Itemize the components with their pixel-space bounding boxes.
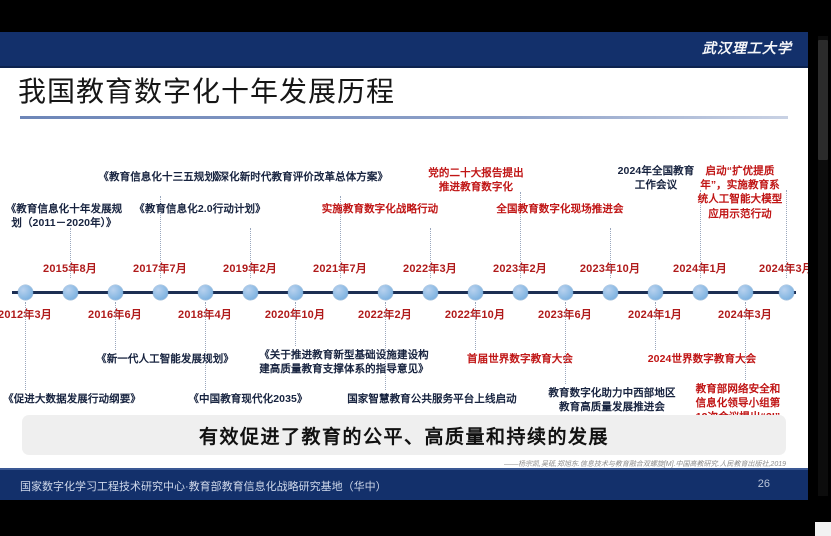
timeline-leader-line: [745, 302, 746, 380]
timeline-node-dot: [153, 285, 168, 300]
viewer-bottom-letterbox: [0, 500, 831, 536]
timeline-event-callout: 《关于推进教育新型基础设施建设构 建高质量教育支撑体系的指导意见》: [244, 348, 444, 376]
timeline-event-callout: 《促进大数据发展行动纲要》: [0, 392, 147, 406]
timeline-event-callout: 《中国教育现代化2035》: [178, 392, 318, 406]
timeline-node-dot: [288, 285, 303, 300]
viewer-corner-marker: [815, 522, 831, 536]
timeline-node-dot: [558, 285, 573, 300]
timeline-node-dot: [378, 285, 393, 300]
timeline-node-dot: [468, 285, 483, 300]
page-title: 我国教育数字化十年发展历程: [18, 70, 395, 110]
timeline-event-callout: 全国教育数字化现场推进会: [480, 202, 640, 216]
timeline-node-dot: [779, 285, 794, 300]
slide-canvas: 武汉理工大学 我国教育数字化十年发展历程 2012年3月《促进大数据发展行动纲要…: [0, 32, 808, 500]
timeline-node-dot: [108, 285, 123, 300]
timeline-leader-line: [70, 228, 71, 278]
title-underline-rule: [20, 116, 788, 119]
timeline-node-dot: [63, 285, 78, 300]
timeline-node-dot: [423, 285, 438, 300]
timeline-leader-line: [475, 302, 476, 350]
conclusion-text: 有效促进了教育的公平、高质量和持续的发展: [199, 422, 609, 449]
university-logo: 武汉理工大学: [702, 38, 792, 58]
timeline-node-dot: [648, 285, 663, 300]
timeline-event-callout: 党的二十大报告提出 推进教育数字化: [411, 166, 541, 194]
timeline-leader-line: [786, 190, 787, 278]
timeline-leader-line: [385, 302, 386, 390]
timeline-event-callout: 《教育信息化2.0行动计划》: [125, 202, 275, 216]
timeline-event-callout: 实施教育数字化战略行动: [305, 202, 455, 216]
timeline-event-callout: 教育数字化助力中西部地区 教育高质量发展推进会: [530, 386, 695, 414]
timeline-leader-line: [205, 302, 206, 390]
slide-header-band: 武汉理工大学: [0, 32, 808, 68]
conclusion-banner: 有效促进了教育的公平、高质量和持续的发展: [22, 415, 786, 455]
timeline-axis: [12, 291, 796, 294]
timeline-leader-line: [565, 302, 566, 384]
timeline-event-callout: 《新一代人工智能发展规划》: [85, 352, 245, 366]
footer-institution: 国家数字化学习工程技术研究中心·教育部教育信息化战略研究基地（华中）: [20, 478, 387, 494]
timeline-node-dot: [603, 285, 618, 300]
timeline-node-dot: [693, 285, 708, 300]
timeline-node-dot: [243, 285, 258, 300]
timeline-event-callout: 《教育信息化十年发展规 划（2011－2020年）》: [0, 202, 128, 230]
vertical-scrollbar-thumb[interactable]: [818, 40, 828, 160]
timeline-event-callout: 国家智慧教育公共服务平台上线启动: [332, 392, 532, 406]
timeline-node-dot: [513, 285, 528, 300]
timeline-node-dot: [18, 285, 33, 300]
timeline: 2012年3月《促进大数据发展行动纲要》2015年8月《教育信息化十年发展规 划…: [0, 120, 808, 420]
timeline-leader-line: [250, 228, 251, 278]
timeline-node-dot: [738, 285, 753, 300]
timeline-date-label: 2024年3月: [759, 260, 808, 276]
timeline-leader-line: [295, 302, 296, 346]
timeline-date-label: 2012年3月: [0, 306, 52, 322]
timeline-event-callout: 2024世界数字教育大会: [627, 352, 777, 366]
slide-viewer: 武汉理工大学 我国教育数字化十年发展历程 2012年3月《促进大数据发展行动纲要…: [0, 0, 831, 536]
timeline-node-dot: [333, 285, 348, 300]
timeline-leader-line: [655, 302, 656, 350]
page-number: 26: [758, 478, 770, 490]
timeline-leader-line: [430, 228, 431, 278]
slide-footer-band: 国家数字化学习工程技术研究中心·教育部教育信息化战略研究基地（华中） 26: [0, 468, 808, 500]
timeline-leader-line: [610, 228, 611, 278]
timeline-leader-line: [115, 302, 116, 350]
timeline-node-dot: [198, 285, 213, 300]
timeline-event-callout: 《深化新时代教育评价改革总体方案》: [198, 170, 398, 184]
timeline-leader-line: [25, 302, 26, 390]
header-edge: [0, 66, 808, 68]
timeline-event-callout: 首届世界数字教育大会: [450, 352, 590, 366]
timeline-event-callout: 启动“扩优提质 年”，实施教育系 统人工智能大模型 应用示范行动: [679, 164, 801, 221]
